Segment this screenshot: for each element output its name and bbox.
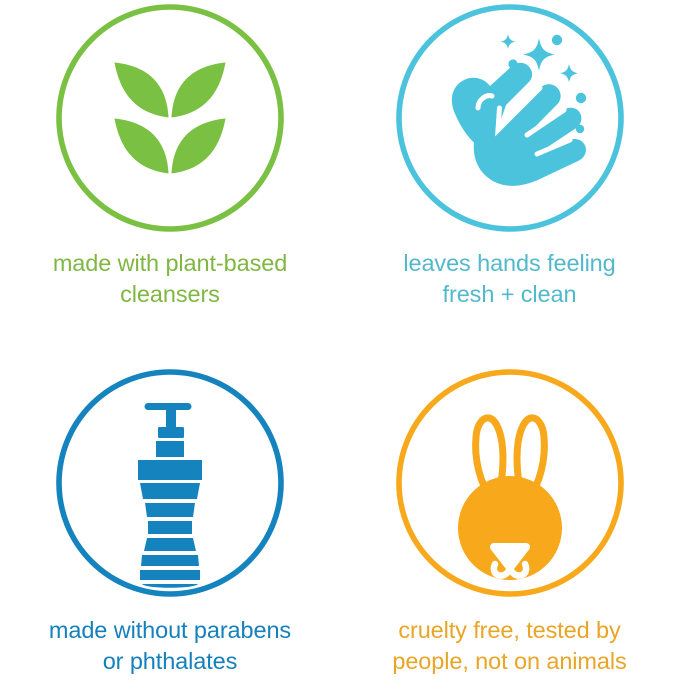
pump-bottle-icon: [54, 367, 286, 599]
caption-line-2: people, not on animals: [345, 646, 675, 677]
washing-hands-sparkle-icon: [394, 2, 626, 234]
bunny-head-icon: [394, 367, 626, 599]
benefits-grid: made with plant-based cleansers: [0, 0, 679, 690]
caption-line-1: leaves hands feeling: [360, 248, 660, 279]
benefit-caption-plant-based: made with plant-based cleansers: [20, 248, 320, 309]
leaf-sprout-icon: [54, 2, 286, 234]
caption-line-2: or phthalates: [5, 646, 335, 677]
benefit-card-cruelty-free: cruelty free, tested by people, not on a…: [340, 345, 679, 690]
caption-line-2: fresh + clean: [360, 279, 660, 310]
benefit-caption-cruelty-free: cruelty free, tested by people, not on a…: [345, 615, 675, 676]
benefit-card-fresh-clean: leaves hands feeling fresh + clean: [340, 0, 679, 345]
benefit-card-no-parabens: made without parabens or phthalates: [0, 345, 340, 690]
caption-line-1: made with plant-based: [20, 248, 320, 279]
benefit-caption-no-parabens: made without parabens or phthalates: [5, 615, 335, 676]
caption-line-1: cruelty free, tested by: [345, 615, 675, 646]
benefit-caption-fresh-clean: leaves hands feeling fresh + clean: [360, 248, 660, 309]
benefit-card-plant-based: made with plant-based cleansers: [0, 0, 340, 345]
caption-line-1: made without parabens: [5, 615, 335, 646]
caption-line-2: cleansers: [20, 279, 320, 310]
